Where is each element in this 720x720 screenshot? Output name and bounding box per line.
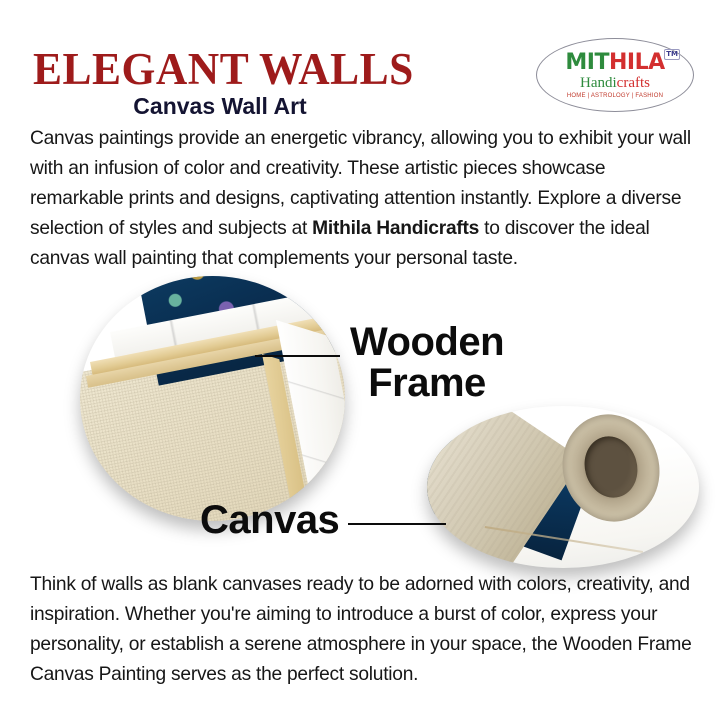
logo-sub-part1: Handi [580,75,617,91]
intro-paragraph: Canvas paintings provide an energetic vi… [30,124,695,274]
wooden-frame-photo [80,276,345,521]
canvas-roll-photo-content [427,406,699,568]
callout-label-canvas: Canvas [200,500,339,541]
brand-mention: Mithila Handicrafts [312,218,479,239]
logo-name-part3: HILA [609,50,665,75]
page-title: ELEGANT WALLS [33,46,414,92]
closing-paragraph: Think of walls as blank canvases ready t… [30,570,695,690]
logo-name-part1: MI [565,50,594,75]
logo-name-part2: T [594,50,609,75]
leader-line-wooden-frame [255,355,340,357]
trademark-icon: TM [664,49,680,60]
logo-tagline: HOME | ASTROLOGY | FASHION [536,93,694,99]
mithila-logo: MITHILA TM Handicrafts HOME | ASTROLOGY … [536,38,694,112]
wooden-frame-photo-content [80,276,345,521]
callout-label-wooden-frame: Wooden Frame [332,322,522,404]
infographic-page: ELEGANT WALLS MITHILA TM Handicrafts HOM… [0,0,720,720]
canvas-roll-photo [427,406,699,568]
leader-line-canvas [348,523,446,525]
logo-subtitle: Handicrafts [536,76,694,91]
section-heading: Canvas Wall Art [0,94,440,119]
logo-sub-part2: crafts [617,75,650,91]
